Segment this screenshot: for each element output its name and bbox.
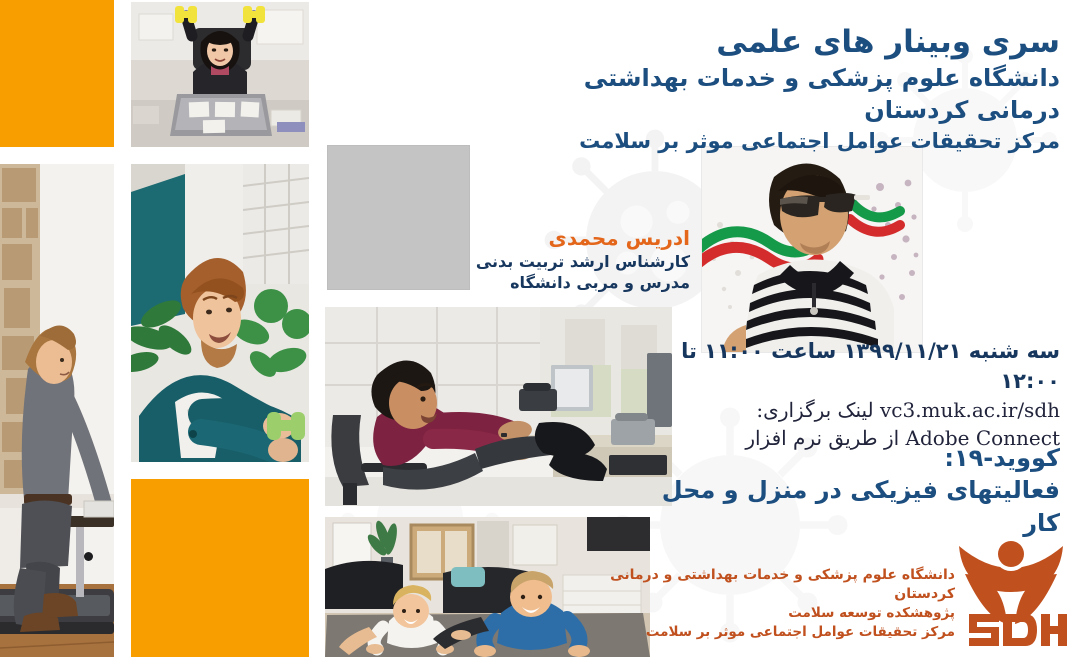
sdh-logo: SDH (955, 528, 1067, 646)
photo-speaker-portrait (702, 147, 922, 352)
webinar-link-row: vc3.muk.ac.ir/sdh لینک برگزاری: (660, 396, 1060, 424)
speaker-role-line-2: مدرس و مربی دانشگاه (430, 272, 690, 293)
research-center-name: مرکز تحقیقات عوامل اجتماعی موثر بر سلامت (500, 126, 1060, 156)
poster-footer: دانشگاه علوم پزشکی و خدمات بهداشتی و درم… (600, 566, 955, 642)
orange-block-top-left (0, 0, 114, 147)
webinar-link-label: لینک برگزاری: (756, 398, 873, 422)
photo-man-on-treadmill-desk (0, 164, 114, 657)
photo-man-with-green-dumbbell-in-office (131, 164, 309, 462)
orange-block-bottom (131, 479, 309, 657)
schedule-info: سه شنبه ۱۳۹۹/۱۱/۲۱ ساعت ۱۱:۰۰ تا ۱۲:۰۰ v… (660, 336, 1060, 452)
topic-line-1: کووید-۱۹: (620, 443, 1060, 474)
speaker-name: ادریس محمدی (430, 226, 690, 251)
webinar-datetime: سه شنبه ۱۳۹۹/۱۱/۲۱ ساعت ۱۱:۰۰ تا ۱۲:۰۰ (660, 336, 1060, 396)
speaker-role-line-1: کارشناس ارشد تربیت بدنی (430, 251, 690, 272)
photo-woman-lifting-dumbbells-at-desk (131, 2, 309, 147)
series-title: سری وبینار های علمی (500, 22, 1060, 62)
footer-line-3: مرکز تحقیقات عوامل اجتماعی موثر بر سلامت (600, 623, 955, 642)
speaker-info: ادریس محمدی کارشناس ارشد تربیت بدنی مدرس… (430, 226, 690, 293)
university-name: دانشگاه علوم پزشکی و خدمات بهداشتی درمان… (500, 62, 1060, 126)
poster-header: سری وبینار های علمی دانشگاه علوم پزشکی و… (500, 22, 1060, 156)
footer-line-2: پژوهشکده توسعه سلامت (600, 604, 955, 623)
webinar-link-url[interactable]: vc3.muk.ac.ir/sdh (880, 398, 1060, 422)
poster-canvas: سری وبینار های علمی دانشگاه علوم پزشکی و… (0, 0, 1080, 657)
footer-line-1: دانشگاه علوم پزشکی و خدمات بهداشتی و درم… (600, 566, 955, 604)
webinar-topic: کووید-۱۹: فعالیتهای فیزیکی در منزل و محل… (620, 443, 1060, 540)
